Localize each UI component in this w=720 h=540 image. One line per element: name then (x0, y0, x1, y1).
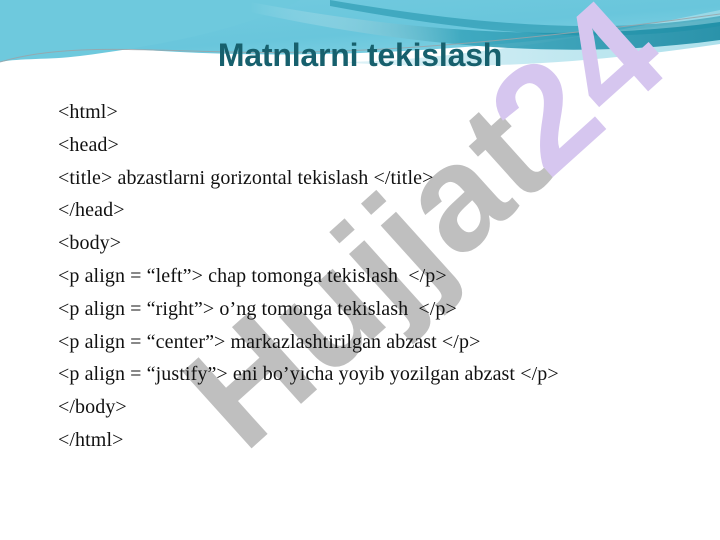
slide-title: Matnlarni tekislash (0, 36, 720, 74)
presentation-slide: Hujjat 24 Matnlarni tekislash <html> <he… (0, 0, 720, 540)
code-line: <body> (58, 227, 678, 260)
code-line: <html> (58, 96, 678, 129)
code-line: </html> (58, 424, 678, 457)
code-line: <p align = “left”> chap tomonga tekislas… (58, 260, 678, 293)
code-line: <p align = “justify”> eni bo’yicha yoyib… (58, 358, 678, 391)
code-line: </body> (58, 391, 678, 424)
code-line: <p align = “right”> o’ng tomonga tekisla… (58, 293, 678, 326)
code-line: </head> (58, 194, 678, 227)
wave-shape-deep-ribbon-2 (330, 0, 720, 35)
code-line: <head> (58, 129, 678, 162)
code-line: <title> abzastlarni gorizontal tekislash… (58, 162, 678, 195)
code-listing: <html> <head> <title> abzastlarni gorizo… (58, 96, 678, 457)
code-line: <p align = “center”> markazlashtirilgan … (58, 326, 678, 359)
